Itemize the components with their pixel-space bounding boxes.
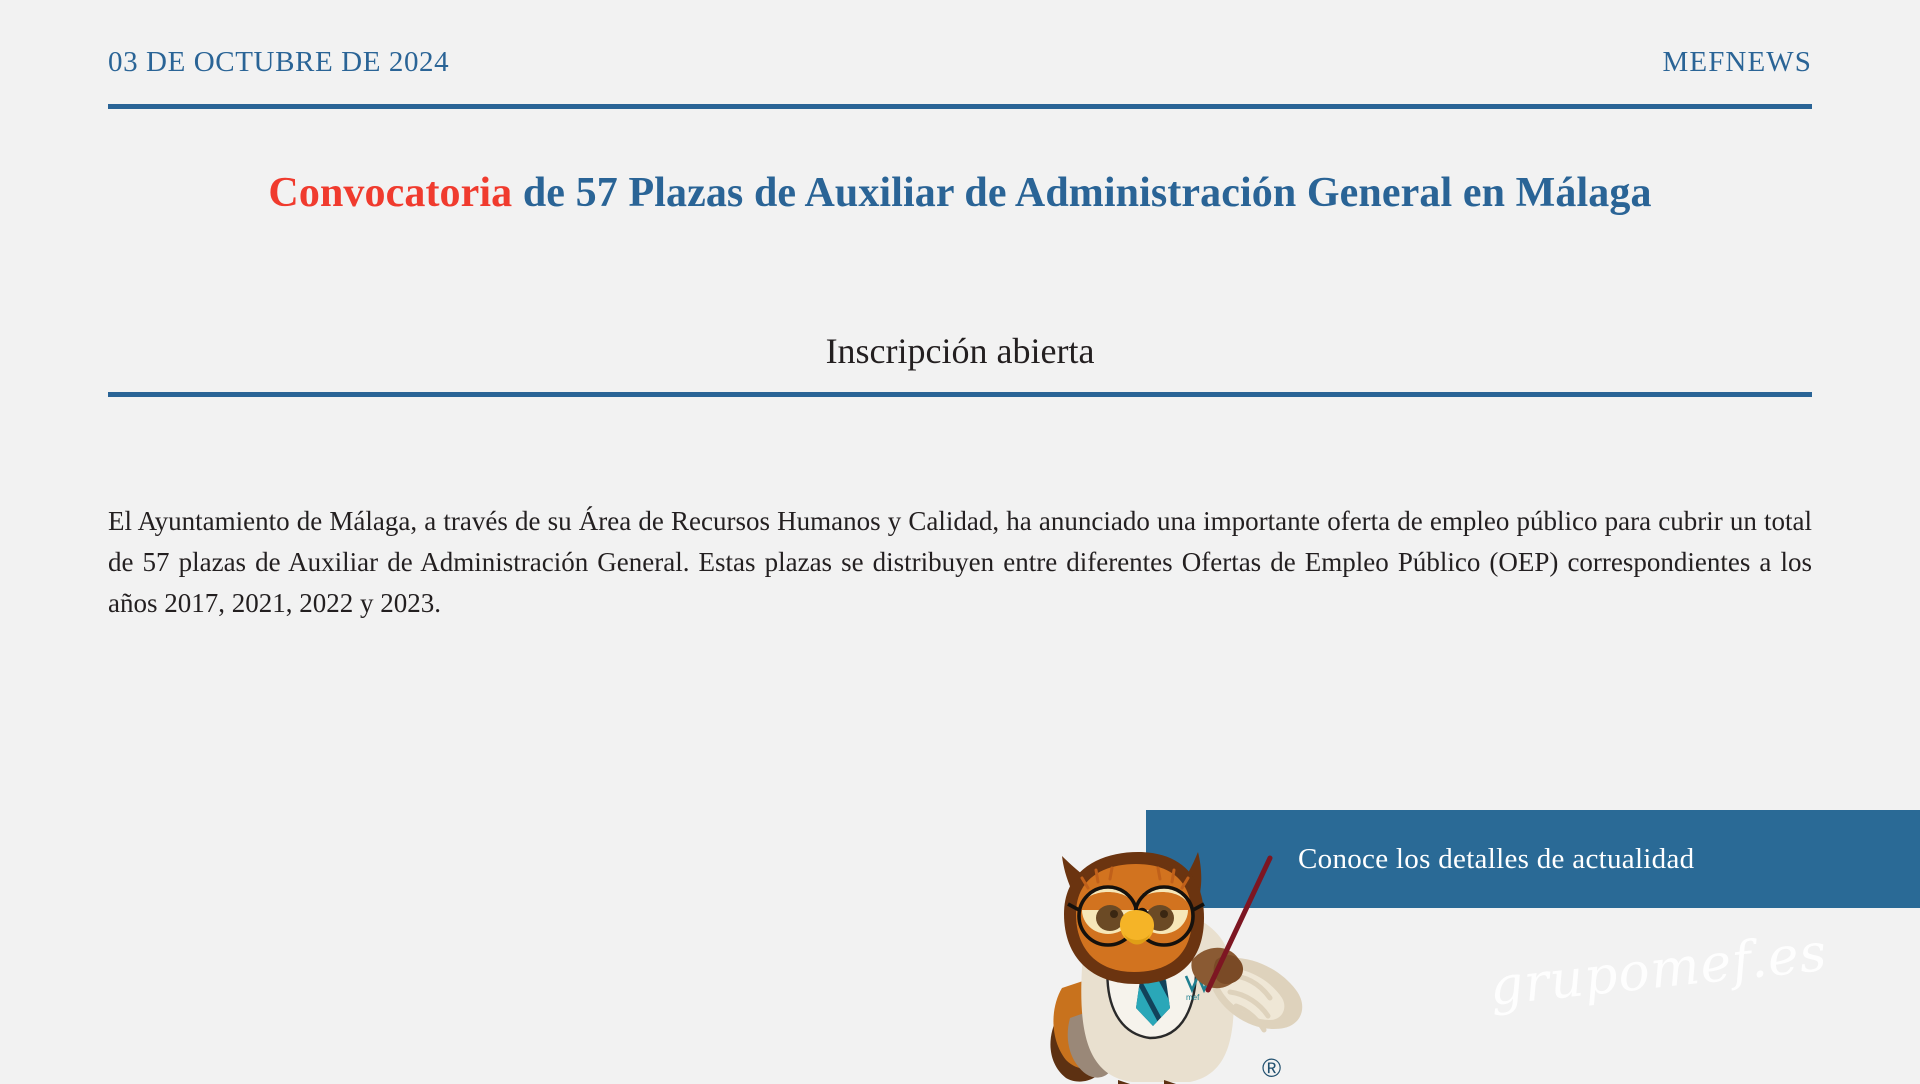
page-title: Convocatoria de 57 Plazas de Auxiliar de…: [108, 168, 1812, 219]
news-card: 03 DE OCTUBRE DE 2024 MEFNEWS Convocator…: [0, 0, 1920, 1080]
subtitle: Inscripción abierta: [108, 330, 1812, 372]
brand-logo-text: MEFNEWS: [1663, 46, 1813, 79]
page-title-accent: Convocatoria: [268, 170, 512, 216]
svg-text:mef: mef: [1186, 993, 1200, 1002]
header-divider: [108, 104, 1812, 109]
header: 03 DE OCTUBRE DE 2024 MEFNEWS: [108, 46, 1812, 90]
publication-date: 03 DE OCTUBRE DE 2024: [108, 46, 449, 79]
registered-trademark-icon: ®: [1262, 1053, 1281, 1084]
site-watermark: grupomef.es: [1487, 923, 1830, 1018]
article-paragraph: El Ayuntamiento de Málaga, a través de s…: [108, 501, 1812, 624]
subtitle-divider: [108, 392, 1812, 397]
owl-mascot: mef: [1040, 848, 1370, 1084]
page-title-rest: de 57 Plazas de Auxiliar de Administraci…: [512, 170, 1651, 216]
